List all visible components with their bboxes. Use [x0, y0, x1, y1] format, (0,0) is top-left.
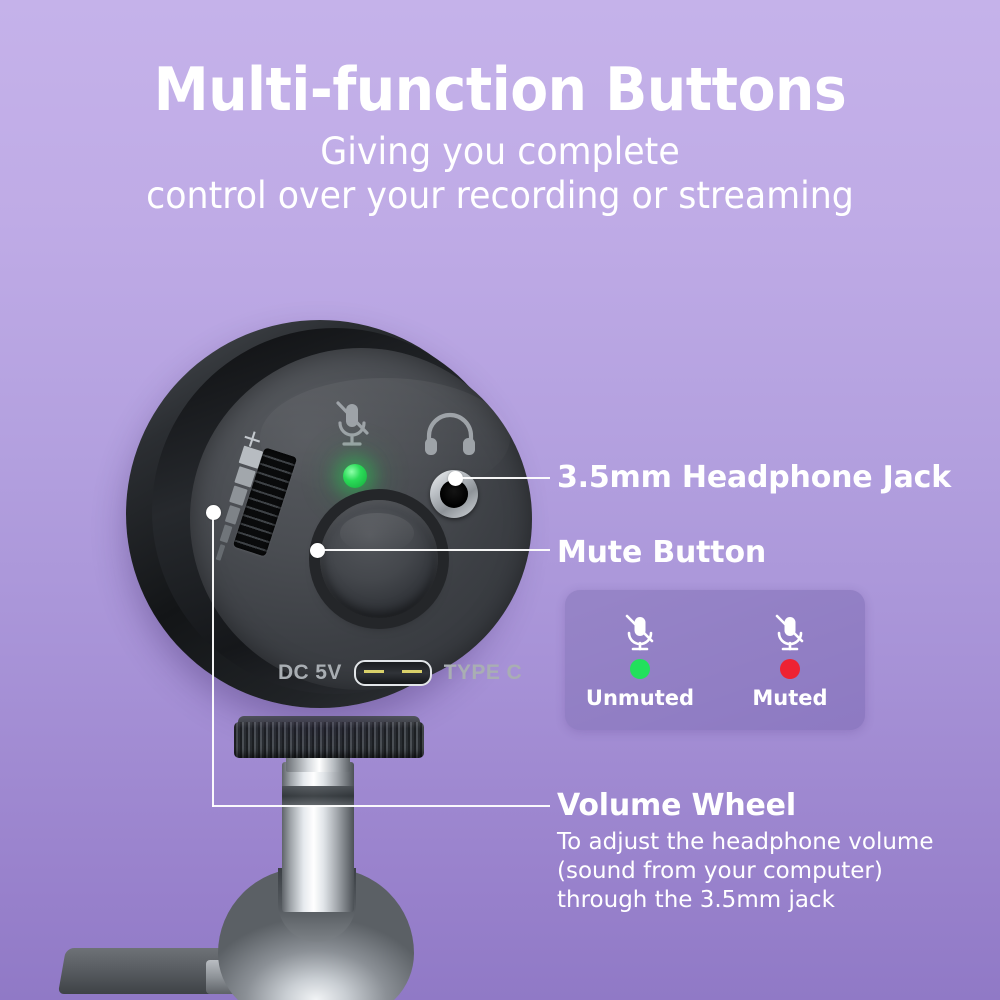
page-subtitle: Giving you complete control over your re… [30, 130, 970, 218]
status-led-muted [780, 659, 800, 679]
microphone-muted-icon [330, 400, 374, 452]
knurled-ring [234, 722, 424, 758]
callout-title-mute-button: Mute Button [557, 535, 766, 570]
callout-line-mute-button [324, 549, 550, 551]
callout-line-headphone-jack [462, 477, 550, 479]
infographic-canvas: Multi-function Buttons Giving you comple… [0, 0, 1000, 1000]
callout-title-headphone-jack: 3.5mm Headphone Jack [557, 460, 951, 495]
power-label: DC 5V [278, 661, 342, 685]
microphone-body: + [126, 320, 514, 708]
microphone-muted-icon [773, 614, 807, 654]
microphone-illustration: + [110, 320, 530, 1000]
port-type-label: TYPE C [444, 661, 522, 685]
status-item-muted: Muted [715, 590, 865, 730]
volume-plus-icon: + [239, 423, 267, 453]
callout-dot-volume-wheel [206, 505, 221, 520]
volume-desc-line-2: (sound from your computer) [557, 857, 933, 886]
status-led-unmuted [630, 659, 650, 679]
callout-line-volume-wheel-vertical [212, 519, 214, 807]
mount-shaft-band [282, 786, 354, 806]
mute-status-card: Unmuted Muted [565, 590, 865, 730]
callout-dot-headphone-jack [448, 471, 463, 486]
callout-description-volume-wheel: To adjust the headphone volume (sound fr… [557, 828, 933, 915]
callout-line-volume-wheel-horizontal [212, 805, 550, 807]
volume-desc-line-1: To adjust the headphone volume [557, 828, 933, 857]
power-port-row: DC 5V TYPE C [250, 660, 550, 686]
mute-button[interactable] [320, 500, 438, 618]
mount-shaft [282, 762, 354, 912]
subtitle-line-2: control over your recording or streaming [30, 174, 970, 218]
status-item-unmuted: Unmuted [565, 590, 715, 730]
mute-button-gloss [340, 513, 414, 553]
usb-c-port-icon[interactable] [354, 660, 432, 686]
page-title: Multi-function Buttons [40, 55, 960, 125]
status-led [343, 464, 367, 488]
status-label-muted: Muted [752, 686, 827, 710]
headphone-icon [422, 410, 478, 456]
volume-desc-line-3: through the 3.5mm jack [557, 886, 933, 915]
callout-dot-mute-button [310, 543, 325, 558]
microphone-muted-icon [623, 614, 657, 654]
callout-title-volume-wheel: Volume Wheel [557, 788, 796, 823]
status-label-unmuted: Unmuted [586, 686, 694, 710]
subtitle-line-1: Giving you complete [30, 130, 970, 174]
microphone-face: + [190, 348, 532, 690]
